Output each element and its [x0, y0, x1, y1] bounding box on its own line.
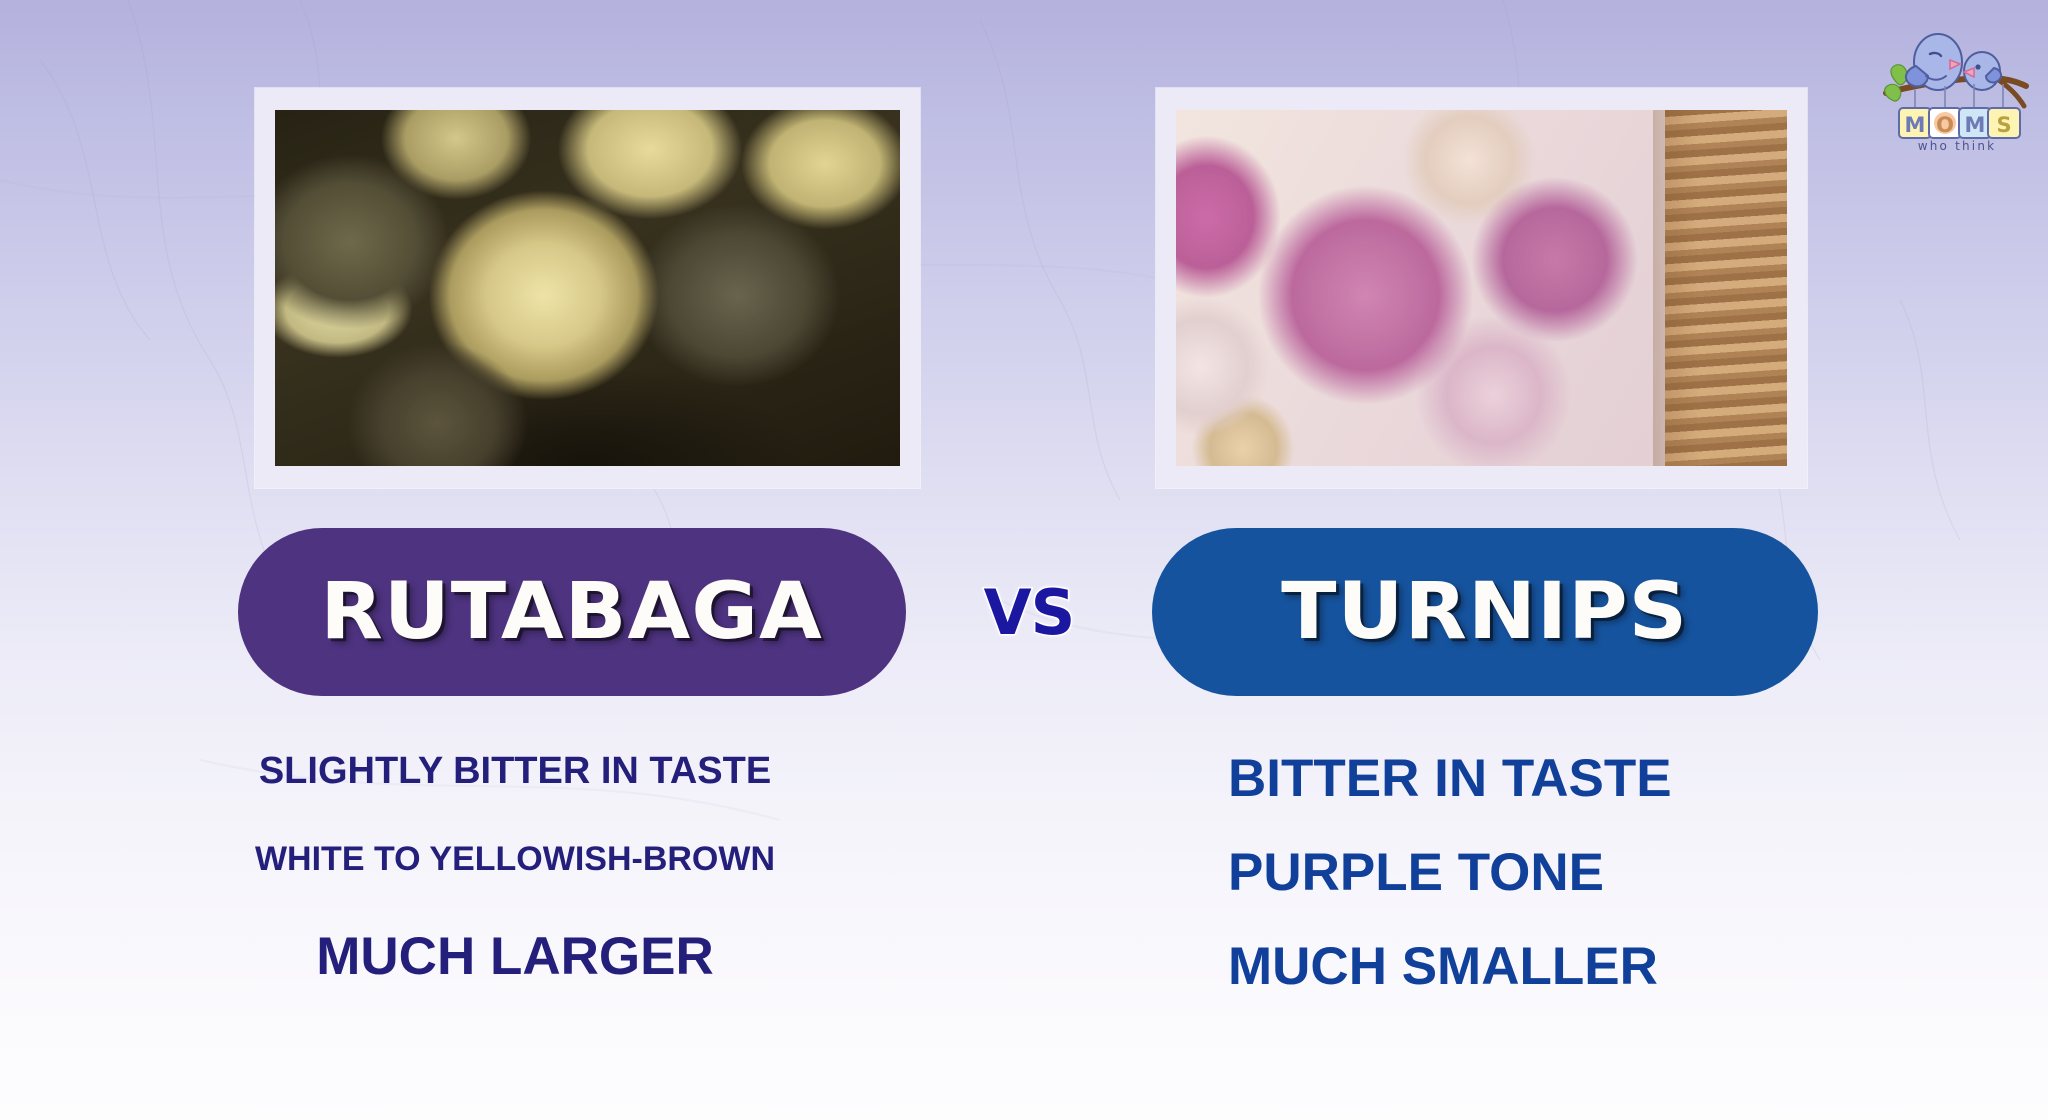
logo-letter-m1: M	[1905, 113, 1926, 137]
turnips-title: TURNIPS	[1282, 567, 1689, 657]
turnips-attribute-1: BITTER IN TASTE	[1228, 752, 1890, 805]
rutabaga-photo-frame	[255, 88, 920, 488]
logo-letter-s: S	[1996, 113, 2011, 137]
turnips-photo-frame	[1156, 88, 1807, 488]
mother-bird-icon	[1906, 34, 1962, 90]
rutabaga-photo	[275, 110, 900, 466]
rutabaga-attribute-2: WHITE TO YELLOWISH-BROWN	[0, 842, 1030, 876]
moms-who-think-logo[interactable]: M O M S who think	[1882, 20, 2032, 152]
turnips-attribute-2: PURPLE TONE	[1228, 846, 1890, 899]
rutabaga-attribute-1: SLIGHTLY BITTER IN TASTE	[0, 752, 1030, 790]
vs-label: VS	[984, 576, 1075, 649]
rutabaga-attribute-list: SLIGHTLY BITTER IN TASTE WHITE TO YELLOW…	[0, 752, 1030, 983]
logo-tagline: who think	[1918, 139, 1997, 152]
turnips-attribute-list: BITTER IN TASTE PURPLE TONE MUCH SMALLER	[1100, 752, 1890, 993]
turnips-photo	[1176, 110, 1787, 466]
leaf-icon	[1885, 65, 1907, 101]
turnips-attribute-3: MUCH SMALLER	[1228, 940, 1890, 993]
comparison-infographic: RUTABAGA VS TURNIPS SLIGHTLY BITTER IN T…	[0, 0, 2048, 1120]
wicker-basket-shade	[1653, 110, 1787, 466]
logo-letter-m2: M	[1965, 113, 1986, 137]
rutabaga-attribute-3: MUCH LARGER	[0, 930, 1030, 983]
vs-separator: VS	[906, 528, 1152, 696]
logo-letter-o: O	[1936, 113, 1954, 137]
baby-bird-icon	[1964, 52, 2001, 90]
rutabaga-title: RUTABAGA	[321, 567, 823, 657]
rutabaga-title-badge: RUTABAGA	[238, 528, 906, 696]
letter-blocks: M O M S	[1899, 108, 2020, 138]
turnips-title-badge: TURNIPS	[1152, 528, 1818, 696]
